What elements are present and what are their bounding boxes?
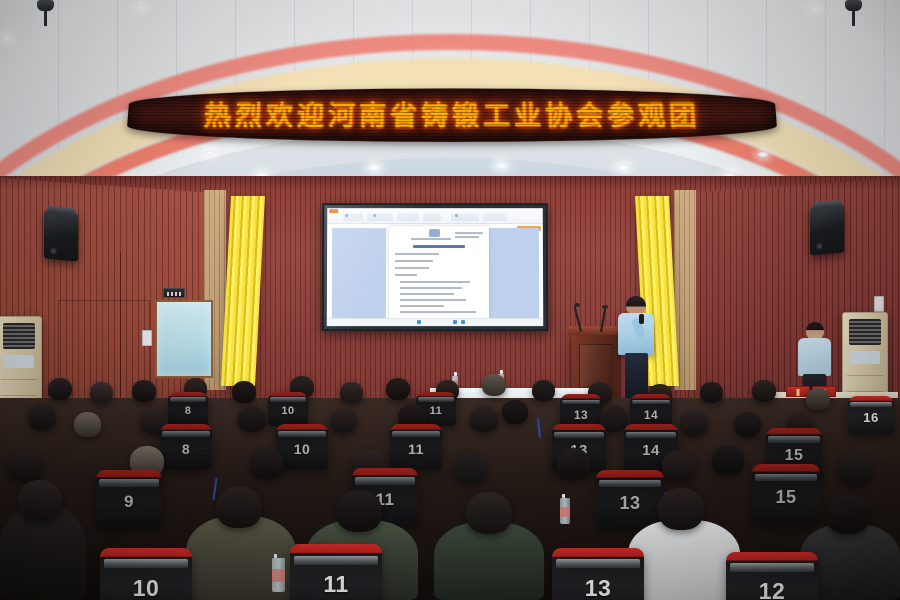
ribbon-group xyxy=(397,213,419,221)
audience-head xyxy=(250,448,284,479)
seat[interactable]: 11 xyxy=(390,424,442,470)
seat[interactable]: 10 xyxy=(100,548,192,600)
seat-rail xyxy=(562,400,601,405)
audience-head xyxy=(386,378,410,400)
seat-number: 11 xyxy=(390,441,442,457)
audience-head xyxy=(662,450,696,481)
ribbon-icon[interactable] xyxy=(455,214,458,217)
seat-rail xyxy=(294,556,379,565)
ceiling-downlight xyxy=(368,164,381,171)
document-text-line xyxy=(395,267,429,269)
podium-top-surface xyxy=(568,326,624,335)
audience-head xyxy=(838,454,872,485)
seat-number: 14 xyxy=(630,408,672,422)
seat-rail xyxy=(755,474,818,482)
audience-head xyxy=(502,400,528,424)
ceiling-downlight xyxy=(495,162,508,169)
audience-head xyxy=(232,381,256,403)
document-text-line xyxy=(411,238,451,240)
status-indicator[interactable] xyxy=(453,320,457,324)
presenter-trousers xyxy=(625,353,648,399)
seat-number: 10 xyxy=(268,405,308,417)
app-status-bar xyxy=(327,318,543,326)
ribbon-group xyxy=(423,213,441,221)
seat-rail xyxy=(270,397,307,401)
ribbon-group xyxy=(367,213,393,221)
seat-rail xyxy=(99,479,160,487)
seat-rail xyxy=(730,563,815,572)
audience-head xyxy=(806,388,830,410)
seat-number: 12 xyxy=(726,578,818,600)
seat-rail xyxy=(599,480,662,488)
ac-grille xyxy=(849,319,881,345)
seat-rail xyxy=(632,400,671,405)
document-text-line xyxy=(400,287,462,289)
led-welcome-banner: 热烈欢迎河南省铸锻工业协会参观团 xyxy=(126,88,778,141)
ceiling-downlight xyxy=(136,5,146,10)
seat-rail xyxy=(626,432,676,438)
audience-head xyxy=(482,374,506,396)
document-text-line xyxy=(400,293,454,295)
audience-head xyxy=(90,382,113,403)
seat-rail xyxy=(104,559,189,568)
exit-sign-plate xyxy=(163,288,185,298)
document-text-line xyxy=(455,232,483,234)
audience-head xyxy=(336,490,382,532)
ceiling-downlight xyxy=(810,6,820,11)
audience-head xyxy=(330,408,357,433)
podium-microphone-head xyxy=(574,303,580,307)
seat-number: 15 xyxy=(752,487,820,508)
audience-head xyxy=(658,488,704,530)
audience-head xyxy=(74,412,101,437)
audience-head xyxy=(532,380,555,401)
seat-rail xyxy=(162,431,210,437)
seat[interactable]: 16 xyxy=(848,396,894,434)
document-title-line xyxy=(413,245,465,247)
status-indicator[interactable] xyxy=(461,320,465,324)
ribbon-group xyxy=(483,213,507,221)
auditorium-scene: 热烈欢迎河南省铸锻工业协会参观团 xyxy=(0,0,900,600)
seat-rail xyxy=(556,559,641,568)
app-ribbon-bar xyxy=(327,208,543,224)
audience-shoulders xyxy=(0,506,86,600)
ceiling-downlight xyxy=(617,164,630,171)
seat[interactable]: 15 xyxy=(752,464,820,524)
ac-display-panel xyxy=(4,355,34,368)
document-text-line xyxy=(400,281,470,283)
audience-head xyxy=(48,378,72,400)
audience-head xyxy=(18,480,62,520)
seat-number: 8 xyxy=(168,405,208,417)
audience-head xyxy=(712,446,744,475)
seat-rail xyxy=(355,477,416,485)
audience-shoulders xyxy=(628,520,740,600)
projection-screen xyxy=(322,203,549,331)
ceiling-downlight xyxy=(758,152,768,157)
ribbon-icon[interactable] xyxy=(345,214,348,217)
audience-head xyxy=(556,448,590,479)
wall-outlet-left[interactable] xyxy=(142,330,152,346)
document-page xyxy=(389,226,489,326)
document-text-line xyxy=(400,305,444,307)
document-text-line xyxy=(400,311,476,313)
seat[interactable]: 11 xyxy=(290,544,382,600)
seat-number: 16 xyxy=(848,410,894,425)
seat-number: 13 xyxy=(596,493,664,514)
app-logo-chip xyxy=(329,209,338,213)
seat[interactable]: 8 xyxy=(160,424,212,470)
seat-number: 11 xyxy=(290,571,382,598)
ceiling-downlight xyxy=(205,150,215,155)
seat[interactable]: 13 xyxy=(596,470,664,530)
ribbon-icon[interactable] xyxy=(373,214,376,217)
document-text-line xyxy=(455,236,479,238)
water-bottle xyxy=(272,558,285,592)
seat-rail xyxy=(392,431,440,437)
document-text-line xyxy=(395,260,433,262)
audience-head xyxy=(826,494,870,534)
ac-display-panel xyxy=(850,351,880,364)
seat-rail xyxy=(418,397,455,401)
audience-head xyxy=(452,452,486,483)
seat-number: 10 xyxy=(276,441,328,457)
seat-number: 9 xyxy=(96,492,162,512)
wall-outlet-right[interactable] xyxy=(874,296,884,312)
document-header-logo xyxy=(429,229,440,237)
audience-head xyxy=(680,410,708,436)
document-text-line xyxy=(395,274,417,276)
slide-pane-left xyxy=(332,228,386,326)
spotlight-head-right xyxy=(845,0,862,11)
ceiling-downlight xyxy=(2,36,12,41)
podium-microphone-head xyxy=(602,305,608,309)
bottle-label xyxy=(560,507,570,517)
document-text-line xyxy=(400,299,466,301)
spotlight-head-left xyxy=(37,0,54,11)
document-text-line xyxy=(395,253,439,255)
seat-number: 13 xyxy=(560,408,602,422)
audience-head xyxy=(216,486,262,528)
seat-rail xyxy=(278,431,326,437)
seat[interactable]: 10 xyxy=(268,392,308,426)
ac-seam xyxy=(1,395,37,396)
seat[interactable]: 9 xyxy=(96,470,162,528)
audience-head xyxy=(238,406,266,432)
handheld-microphone xyxy=(639,314,644,324)
seat-rail xyxy=(768,436,820,443)
audience-head xyxy=(132,380,156,402)
bottle-label xyxy=(272,569,285,582)
slide-pane-right xyxy=(481,228,539,326)
wall-shadow-band xyxy=(0,176,900,190)
seat[interactable]: 8 xyxy=(168,392,208,426)
wall-speaker-right xyxy=(810,205,844,256)
seat-number: 13 xyxy=(552,575,644,600)
seat-number: 8 xyxy=(160,441,212,457)
ac-grille xyxy=(3,323,35,349)
seat-rail xyxy=(850,402,892,407)
audience-head xyxy=(28,404,56,430)
audience-head xyxy=(752,380,776,402)
audience-head xyxy=(8,450,42,481)
water-bottle xyxy=(560,498,570,524)
seat-number: 15 xyxy=(766,447,822,465)
seat-rail xyxy=(554,432,604,438)
projected-slide xyxy=(327,208,543,326)
seat[interactable]: 12 xyxy=(726,552,818,600)
status-indicator[interactable] xyxy=(417,320,421,324)
ac-seam xyxy=(1,379,37,380)
ac-seam xyxy=(847,375,883,376)
audience-head xyxy=(340,382,363,403)
audience-head xyxy=(700,382,723,403)
wall-speaker-left xyxy=(44,211,78,262)
seat[interactable]: 13 xyxy=(552,548,644,600)
audience-head xyxy=(734,412,761,437)
assistant-shirt xyxy=(798,338,831,376)
audience-head xyxy=(466,492,512,534)
seat-rail xyxy=(170,397,207,401)
audience-head xyxy=(470,406,498,432)
seat-number: 10 xyxy=(100,575,192,600)
led-banner-text: 热烈欢迎河南省铸锻工业协会参观团 xyxy=(203,94,701,136)
side-door-panel[interactable] xyxy=(155,300,213,378)
